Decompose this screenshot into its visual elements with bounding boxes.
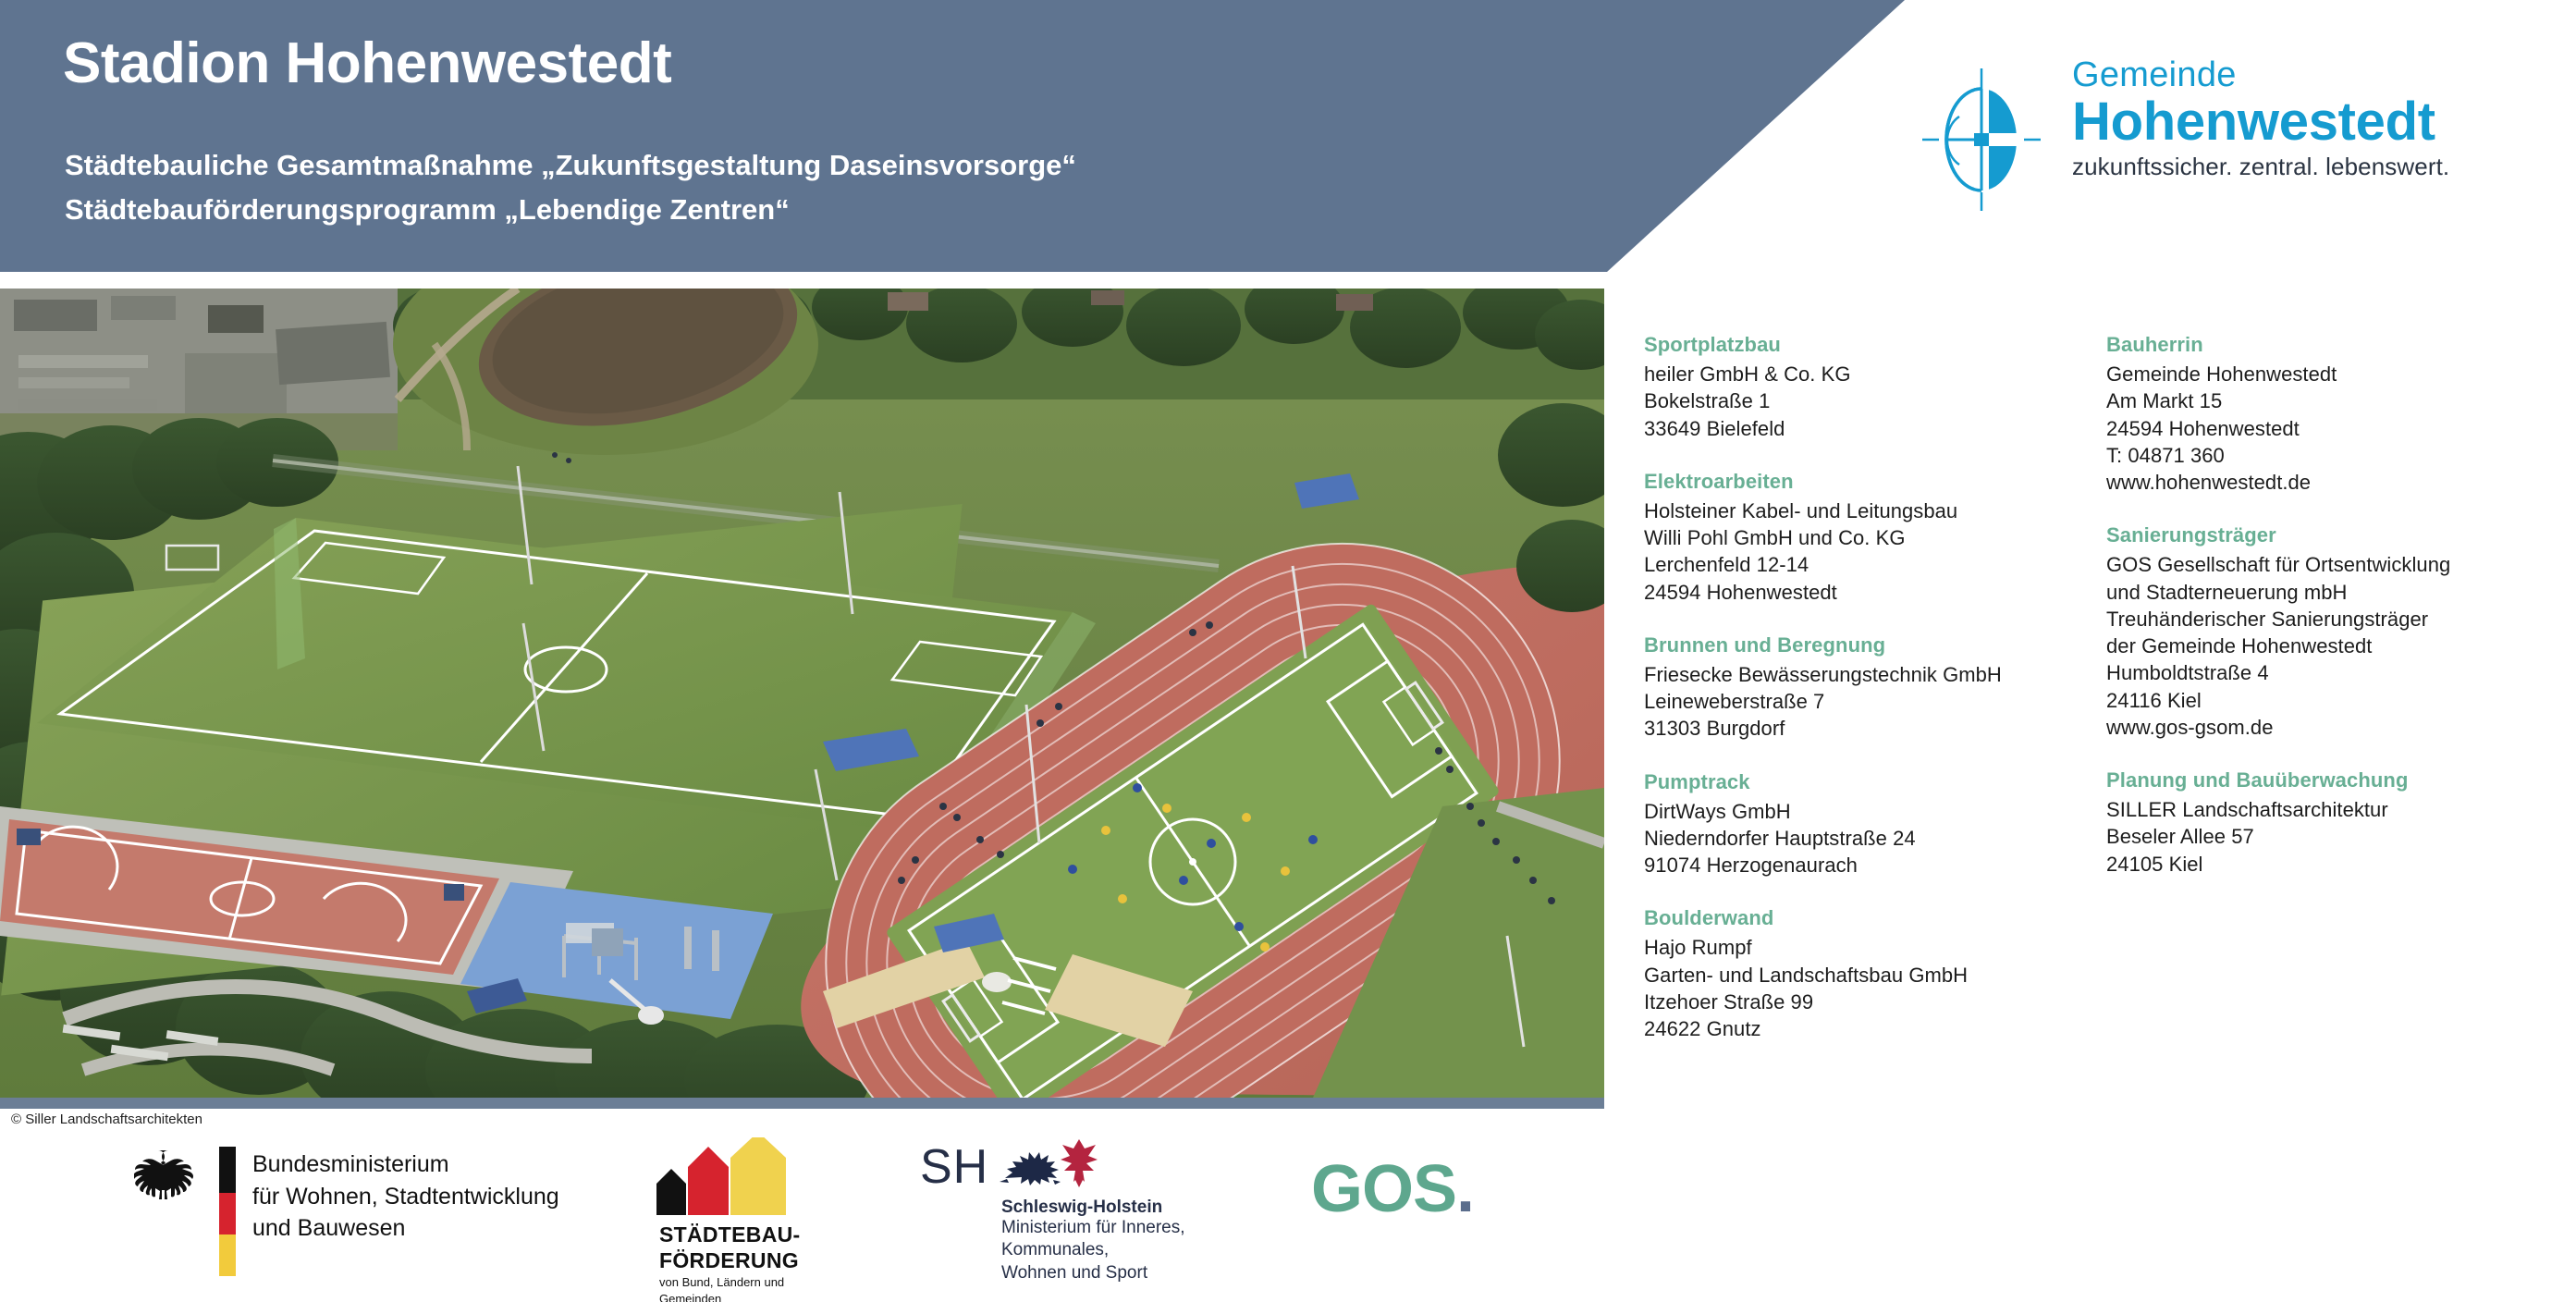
sh-department-line3: Wohnen und Sport — [1001, 1262, 1185, 1284]
contact-line: Willi Pohl GmbH und Co. KG — [1644, 524, 2079, 551]
staedtebaufoerderung-title-line1: STÄDTEBAU- — [659, 1222, 801, 1248]
flag-black — [219, 1147, 236, 1193]
contact-line: 24594 Hohenwestedt — [2106, 415, 2541, 442]
gemeinde-emblem-icon — [1919, 61, 2057, 218]
flag-red — [219, 1193, 236, 1234]
contact-heading: Sanierungsträger — [2106, 523, 2541, 547]
gos-wordmark: GOS — [1311, 1152, 1456, 1226]
contact-heading: Elektroarbeiten — [1644, 470, 2079, 494]
sh-nettle-leaf-icon — [1061, 1139, 1098, 1187]
poster-header: Stadion Hohenwestedt Städtebauliche Gesa… — [0, 0, 2576, 272]
sh-state-name: Schleswig-Holstein — [1001, 1197, 1162, 1219]
contact-line: 24116 Kiel — [2106, 687, 2541, 714]
poster-board: Stadion Hohenwestedt Städtebauliche Gesa… — [0, 0, 2576, 1302]
sh-lion-icon — [996, 1141, 1062, 1187]
bmwsb-line-2: für Wohnen, Stadtentwicklung — [252, 1181, 559, 1213]
contact-line: DirtWays GmbH — [1644, 798, 2079, 825]
sh-department-line2: Kommunales, — [1001, 1239, 1185, 1261]
contact-line: 91074 Herzogenaurach — [1644, 852, 2079, 878]
contact-line: Holsteiner Kabel- und Leitungsbau — [1644, 497, 2079, 524]
gemeinde-logo-line2: Hohenwestedt — [2072, 94, 2449, 149]
three-houses-icon — [618, 1137, 840, 1222]
contact-line: 31303 Burgdorf — [1644, 715, 2079, 742]
contact-line: Lerchenfeld 12-14 — [1644, 551, 2079, 578]
contact-block: BauherrinGemeinde HohenwestedtAm Markt 1… — [2106, 333, 2541, 496]
gemeinde-logo-tagline: zukunftssicher. zentral. lebenswert. — [2072, 154, 2449, 178]
gemeinde-logo-text: Gemeinde Hohenwestedt zukunftssicher. ze… — [2072, 57, 2449, 178]
bundesadler-icon — [134, 1147, 203, 1221]
contact-block: ElektroarbeitenHolsteiner Kabel- und Lei… — [1644, 470, 2079, 606]
bmwsb-line-3: und Bauwesen — [252, 1212, 559, 1245]
staedtebaufoerderung-title-line2: FÖRDERUNG — [659, 1248, 801, 1274]
contacts-column-left: Sportplatzbauheiler GmbH & Co. KGBokelst… — [1644, 333, 2079, 1070]
image-credit: © Siller Landschaftsarchitekten — [11, 1112, 202, 1127]
bmwsb-line-1: Bundesministerium — [252, 1148, 559, 1181]
page-title: Stadion Hohenwestedt — [63, 33, 671, 93]
contact-line: Am Markt 15 — [2106, 387, 2541, 414]
contact-line: und Stadterneuerung mbH — [2106, 579, 2541, 606]
contact-line: Friesecke Bewässerungstechnik GmbH — [1644, 661, 2079, 688]
contact-line: heiler GmbH & Co. KG — [1644, 361, 2079, 387]
staedtebaufoerderung-sub-line2: Gemeinden — [659, 1291, 784, 1302]
sh-department: Ministerium für Inneres, Kommunales, Woh… — [1001, 1217, 1185, 1284]
contact-block: Planung und BauüberwachungSILLER Landsch… — [2106, 768, 2541, 878]
contact-line: Humboldtstraße 4 — [2106, 659, 2541, 686]
schleswig-holstein-logo: SH Schleswig-Holstein Ministerium für In… — [920, 1143, 1308, 1282]
contact-line: Niederndorfer Hauptstraße 24 — [1644, 825, 2079, 852]
contact-line: T: 04871 360 — [2106, 442, 2541, 469]
staedtebaufoerderung-sub-line1: von Bund, Ländern und — [659, 1274, 784, 1291]
contact-line: SILLER Landschaftsarchitektur — [2106, 796, 2541, 823]
gos-logo: GOS. — [1311, 1156, 1474, 1222]
gemeinde-hohenwestedt-logo: Gemeinde Hohenwestedt zukunftssicher. ze… — [1919, 81, 2529, 220]
contact-line: Hajo Rumpf — [1644, 934, 2079, 961]
contact-line: 24105 Kiel — [2106, 851, 2541, 878]
contact-block: Brunnen und BeregnungFriesecke Bewässeru… — [1644, 633, 2079, 743]
gemeinde-logo-line1: Gemeinde — [2072, 57, 2449, 92]
flag-gold — [219, 1234, 236, 1276]
sh-department-line1: Ministerium für Inneres, — [1001, 1217, 1185, 1239]
german-flag-bar — [219, 1147, 236, 1276]
aerial-scene-illustration — [0, 289, 1604, 1098]
footer-logo-bar: Bundesministerium für Wohnen, Stadtentwi… — [0, 1136, 2576, 1302]
contact-line: Garten- und Landschaftsbau GmbH — [1644, 962, 2079, 989]
bmwsb-logo-text: Bundesministerium für Wohnen, Stadtentwi… — [252, 1148, 559, 1245]
staedtebaufoerderung-subtitle: von Bund, Ländern und Gemeinden — [659, 1274, 784, 1302]
contacts-panel: Sportplatzbauheiler GmbH & Co. KGBokelst… — [1644, 333, 2559, 1073]
contact-heading: Sportplatzbau — [1644, 333, 2079, 357]
contact-line: Bokelstraße 1 — [1644, 387, 2079, 414]
gos-dot: . — [1456, 1152, 1474, 1226]
aerial-bottom-bar — [0, 1098, 1604, 1109]
contact-line: GOS Gesellschaft für Ortsentwicklung — [2106, 551, 2541, 578]
sh-monogram: SH — [920, 1143, 988, 1191]
staedtebaufoerderung-title: STÄDTEBAU- FÖRDERUNG — [659, 1222, 801, 1273]
contact-block: BoulderwandHajo RumpfGarten- und Landsch… — [1644, 906, 2079, 1042]
contact-heading: Planung und Bauüberwachung — [2106, 768, 2541, 792]
header-subtitle-2: Städtebauförderungsprogramm „Lebendige Z… — [65, 192, 790, 227]
contact-block: SanierungsträgerGOS Gesellschaft für Ort… — [2106, 523, 2541, 741]
contact-line: 24594 Hohenwestedt — [1644, 579, 2079, 606]
contact-line: Beseler Allee 57 — [2106, 823, 2541, 850]
contact-line: Treuhänderischer Sanierungsträger — [2106, 606, 2541, 633]
contacts-column-right: BauherrinGemeinde HohenwestedtAm Markt 1… — [2106, 333, 2541, 905]
contact-block: PumptrackDirtWays GmbHNiederndorfer Haup… — [1644, 770, 2079, 879]
contact-line: Gemeinde Hohenwestedt — [2106, 361, 2541, 387]
contact-line: der Gemeinde Hohenwestedt — [2106, 633, 2541, 659]
contact-heading: Pumptrack — [1644, 770, 2079, 794]
header-subtitle-1: Städtebauliche Gesamtmaßnahme „Zukunftsg… — [65, 148, 1076, 182]
contact-heading: Boulderwand — [1644, 906, 2079, 930]
contact-block: Sportplatzbauheiler GmbH & Co. KGBokelst… — [1644, 333, 2079, 442]
contact-heading: Bauherrin — [2106, 333, 2541, 357]
contact-line: 33649 Bielefeld — [1644, 415, 2079, 442]
contact-line: www.gos-gsom.de — [2106, 714, 2541, 741]
contact-line: Leineweberstraße 7 — [1644, 688, 2079, 715]
aerial-site-rendering — [0, 289, 1604, 1098]
staedtebaufoerderung-logo: STÄDTEBAU- FÖRDERUNG von Bund, Ländern u… — [618, 1137, 840, 1299]
contact-line: www.hohenwestedt.de — [2106, 469, 2541, 496]
bmwsb-logo: Bundesministerium für Wohnen, Stadtentwi… — [134, 1147, 578, 1276]
contact-heading: Brunnen und Beregnung — [1644, 633, 2079, 657]
contact-line: 24622 Gnutz — [1644, 1015, 2079, 1042]
contact-line: Itzehoer Straße 99 — [1644, 989, 2079, 1015]
